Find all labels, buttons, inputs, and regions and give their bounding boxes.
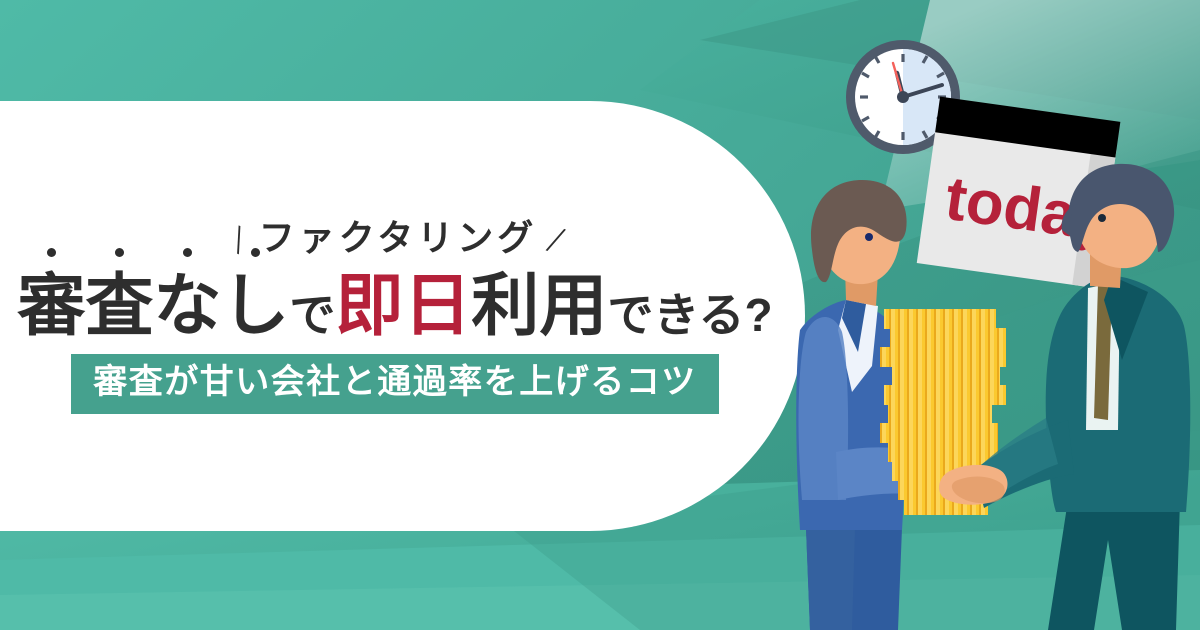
woman-eye: [865, 233, 873, 241]
headline-part-de: で: [289, 292, 335, 338]
eyebrow-label: ファクタリング: [259, 220, 538, 256]
headline-part-shinsa-nashi: 審査なし: [17, 272, 289, 340]
headline-text-1: 審査なし: [17, 268, 289, 344]
eyebrow-slash-right: /: [543, 220, 568, 261]
subtitle-band: 審査が甘い会社と通過率を上げるコツ: [71, 354, 719, 413]
headline: 審査なし で 即日 利用 できる?: [17, 272, 772, 340]
headline-part-sokujitsu: 即日: [335, 272, 471, 340]
headline-part-riyou: 利用: [471, 272, 607, 340]
man-eye: [1098, 214, 1106, 222]
eyebrow-row: \ ファクタリング /: [234, 218, 563, 258]
hero-text-block: \ ファクタリング / 審査なし で 即日 利用 できる? 審査が甘い会社と通過…: [0, 101, 790, 531]
hero-banner: today: [0, 0, 1200, 630]
eyebrow-slash-left: \: [226, 220, 251, 261]
headline-part-dekiru: できる?: [607, 292, 772, 338]
